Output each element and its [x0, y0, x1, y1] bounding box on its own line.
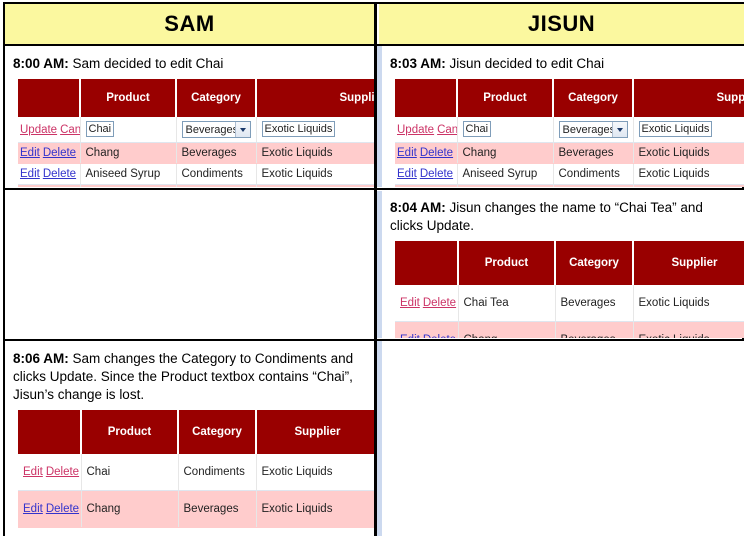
supplier-cell: Exotic Liquids: [633, 285, 744, 322]
product-cell: Aniseed Syrup: [457, 164, 553, 185]
category-cell: Condiments: [553, 185, 633, 188]
caption-time: 8:04 AM:: [390, 200, 446, 215]
supplier-textbox[interactable]: Exotic Liquids: [262, 121, 336, 137]
row-commands: EditDelete: [395, 285, 458, 322]
category-cell: Beverages: [555, 285, 633, 322]
category-dropdown-value: Beverages: [186, 124, 239, 136]
edit-link[interactable]: Edit: [23, 466, 43, 478]
category-cell: Beverages: [178, 491, 256, 528]
column-header-product: Product: [458, 241, 555, 285]
row-commands: EditDelete: [395, 143, 457, 164]
column-header-commands: [18, 79, 80, 117]
column-header-supplier: Supplier: [633, 241, 744, 285]
product-cell: Chef Anton's Cajun: [80, 185, 176, 188]
table-row: EditDelete Chef Anton's Cajun Condiments…: [395, 185, 744, 188]
edit-link[interactable]: Edit: [400, 334, 420, 338]
table-row: EditDelete Chef Anton's Cajun Condiments…: [18, 185, 374, 188]
column-header-product: Product: [80, 79, 176, 117]
supplier-edit-cell: Exotic Liquids: [256, 117, 374, 143]
supplier-edit-cell: Exotic Liquids: [633, 117, 744, 143]
column-header-product: Product: [457, 79, 553, 117]
supplier-textbox[interactable]: Exotic Liquids: [639, 121, 713, 137]
row-commands: EditDelete: [395, 185, 457, 188]
update-link[interactable]: Update: [397, 124, 434, 136]
column-header-category: Category: [555, 241, 633, 285]
category-dropdown-value: Beverages: [563, 124, 616, 136]
delete-link[interactable]: Delete: [423, 334, 456, 338]
cancel-link[interactable]: Cancel: [60, 124, 80, 136]
products-gridview-jisun-update: Product Category Supplier EditDelete Cha…: [395, 241, 744, 338]
caption-time: 8:03 AM:: [390, 56, 446, 71]
product-cell: Chang: [80, 143, 176, 164]
column-header-supplier: Supplier: [256, 79, 374, 117]
caption-text: Sam decided to edit Chai: [69, 56, 224, 71]
chevron-down-icon: [612, 122, 627, 137]
caption-text: Jisun decided to edit Chai: [446, 56, 604, 71]
panel-jisun-update: 8:04 AM: Jisun changes the name to “Chai…: [382, 190, 744, 338]
category-edit-cell: Beverages: [176, 117, 256, 143]
category-cell: Condiments: [178, 454, 256, 491]
column-header-category: Category: [176, 79, 256, 117]
table-row: EditDelete Chang Beverages Exotic Liquid…: [395, 143, 744, 164]
column-header-category: Category: [553, 79, 633, 117]
delete-link[interactable]: Delete: [46, 503, 79, 515]
panel-jisun-empty: [382, 341, 744, 536]
caption-sam-update: 8:06 AM: Sam changes the Category to Con…: [5, 341, 374, 404]
products-gridview-sam-edit: Product Category Supplier UpdateCancel C…: [18, 79, 374, 187]
column-header-commands: [395, 241, 458, 285]
row-commands: EditDelete: [18, 454, 81, 491]
update-link[interactable]: Update: [20, 124, 57, 136]
caption-sam-edit: 8:00 AM: Sam decided to edit Chai: [5, 46, 374, 73]
supplier-cell: Exotic Liquids: [256, 143, 374, 164]
category-dropdown[interactable]: Beverages: [182, 121, 251, 138]
category-dropdown[interactable]: Beverages: [559, 121, 628, 138]
table-row: EditDelete Aniseed Syrup Condiments Exot…: [395, 164, 744, 185]
supplier-cell: New Orleans Cajun Delights: [633, 185, 744, 188]
column-header-sam-label: SAM: [164, 11, 214, 37]
product-cell: Chai Tea: [458, 285, 555, 322]
panel-sam-empty: [5, 190, 374, 338]
column-header-commands: [18, 410, 81, 454]
table-row: EditDelete Chang Beverages Exotic Liquid…: [18, 143, 374, 164]
caption-jisun-update: 8:04 AM: Jisun changes the name to “Chai…: [382, 190, 744, 235]
category-cell: Condiments: [553, 164, 633, 185]
edit-link[interactable]: Edit: [397, 168, 417, 180]
product-edit-cell: Chai: [457, 117, 553, 143]
column-header-category: Category: [178, 410, 256, 454]
caption-jisun-edit: 8:03 AM: Jisun decided to edit Chai: [382, 46, 744, 73]
category-cell: Condiments: [176, 185, 256, 188]
column-header-supplier: Supplier: [633, 79, 744, 117]
products-gridview-jisun-edit: Product Category Supplier UpdateCancel C…: [395, 79, 744, 187]
product-cell: Chai: [81, 454, 178, 491]
table-row: EditDelete Chai Condiments Exotic Liquid…: [18, 454, 374, 491]
row-commands: EditDelete: [395, 164, 457, 185]
edit-link[interactable]: Edit: [397, 147, 417, 159]
edit-link[interactable]: Edit: [20, 147, 40, 159]
supplier-cell: Exotic Liquids: [633, 164, 744, 185]
chevron-down-icon: [235, 122, 250, 137]
supplier-cell: Exotic Liquids: [633, 322, 744, 339]
product-cell: Chef Anton's Cajun: [457, 185, 553, 188]
table-row: EditDelete Chang Beverages Exotic Liquid…: [18, 491, 374, 528]
column-header-supplier: Supplier: [256, 410, 374, 454]
delete-link[interactable]: Delete: [420, 147, 453, 159]
supplier-cell: Exotic Liquids: [256, 164, 374, 185]
product-textbox[interactable]: Chai: [86, 121, 115, 137]
delete-link[interactable]: Delete: [423, 297, 456, 309]
column-header-jisun-label: JISUN: [528, 11, 595, 37]
gridview-wrapper-sam-update: Product Category Supplier EditDelete Cha…: [5, 404, 374, 528]
table-header-row: Product Category Supplier: [18, 410, 374, 454]
supplier-cell: Exotic Liquids: [633, 143, 744, 164]
category-cell: Condiments: [176, 164, 256, 185]
row-commands: UpdateCancel: [395, 117, 457, 143]
row-commands: UpdateCancel: [18, 117, 80, 143]
caption-time: 8:06 AM:: [13, 351, 69, 366]
products-gridview-sam-update: Product Category Supplier EditDelete Cha…: [18, 410, 374, 528]
delete-link[interactable]: Delete: [420, 168, 453, 180]
table-header-row: Product Category Supplier: [18, 79, 374, 117]
row-commands: EditDelete: [395, 322, 458, 339]
delete-link[interactable]: Delete: [43, 168, 76, 180]
table-header-row: Product Category Supplier: [395, 79, 744, 117]
column-header-commands: [395, 79, 457, 117]
product-cell: Chang: [81, 491, 178, 528]
delete-link[interactable]: Delete: [46, 466, 79, 478]
category-cell: Beverages: [553, 143, 633, 164]
delete-link[interactable]: Delete: [43, 147, 76, 159]
supplier-cell: Exotic Liquids: [256, 491, 374, 528]
column-header-product: Product: [81, 410, 178, 454]
panel-sam-update: 8:06 AM: Sam changes the Category to Con…: [5, 341, 374, 536]
edit-link[interactable]: Edit: [20, 168, 40, 180]
gridview-wrapper-jisun-update: Product Category Supplier EditDelete Cha…: [382, 235, 744, 338]
column-header-sam: SAM: [5, 4, 374, 44]
supplier-cell: New Orleans Cajun Delights: [256, 185, 374, 188]
row-commands: EditDelete: [18, 164, 80, 185]
table-row: EditDelete Aniseed Syrup Condiments Exot…: [18, 164, 374, 185]
product-textbox[interactable]: Chai: [463, 121, 492, 137]
table-row: EditDelete Chang Beverages Exotic Liquid…: [395, 322, 744, 339]
category-edit-cell: Beverages: [553, 117, 633, 143]
category-cell: Beverages: [555, 322, 633, 339]
table-header-row: Product Category Supplier: [395, 241, 744, 285]
column-header-jisun: JISUN: [379, 4, 744, 44]
lost-update-illustration: SAM JISUN 8:00 AM: Sam decided to edit C…: [0, 0, 747, 538]
category-cell: Beverages: [176, 143, 256, 164]
supplier-cell: Exotic Liquids: [256, 454, 374, 491]
product-cell: Chang: [457, 143, 553, 164]
panel-jisun-edit: 8:03 AM: Jisun decided to edit Chai Prod…: [382, 46, 744, 187]
edit-link[interactable]: Edit: [400, 297, 420, 309]
product-cell: Chang: [458, 322, 555, 339]
row-commands: EditDelete: [18, 185, 80, 188]
panel-sam-edit: 8:00 AM: Sam decided to edit Chai Produc…: [5, 46, 374, 187]
gridview-wrapper-jisun-edit: Product Category Supplier UpdateCancel C…: [382, 73, 744, 187]
table-row-edit: UpdateCancel Chai Beverages Exotic Liqui…: [395, 117, 744, 143]
gridview-wrapper-sam-edit: Product Category Supplier UpdateCancel C…: [5, 73, 374, 187]
row-commands: EditDelete: [18, 143, 80, 164]
row-commands: EditDelete: [18, 491, 81, 528]
edit-link[interactable]: Edit: [23, 503, 43, 515]
caption-time: 8:00 AM:: [13, 56, 69, 71]
product-cell: Aniseed Syrup: [80, 164, 176, 185]
product-edit-cell: Chai: [80, 117, 176, 143]
cancel-link[interactable]: Cancel: [437, 124, 457, 136]
table-row: EditDelete Chai Tea Beverages Exotic Liq…: [395, 285, 744, 322]
table-row-edit: UpdateCancel Chai Beverages Exotic Liqui…: [18, 117, 374, 143]
